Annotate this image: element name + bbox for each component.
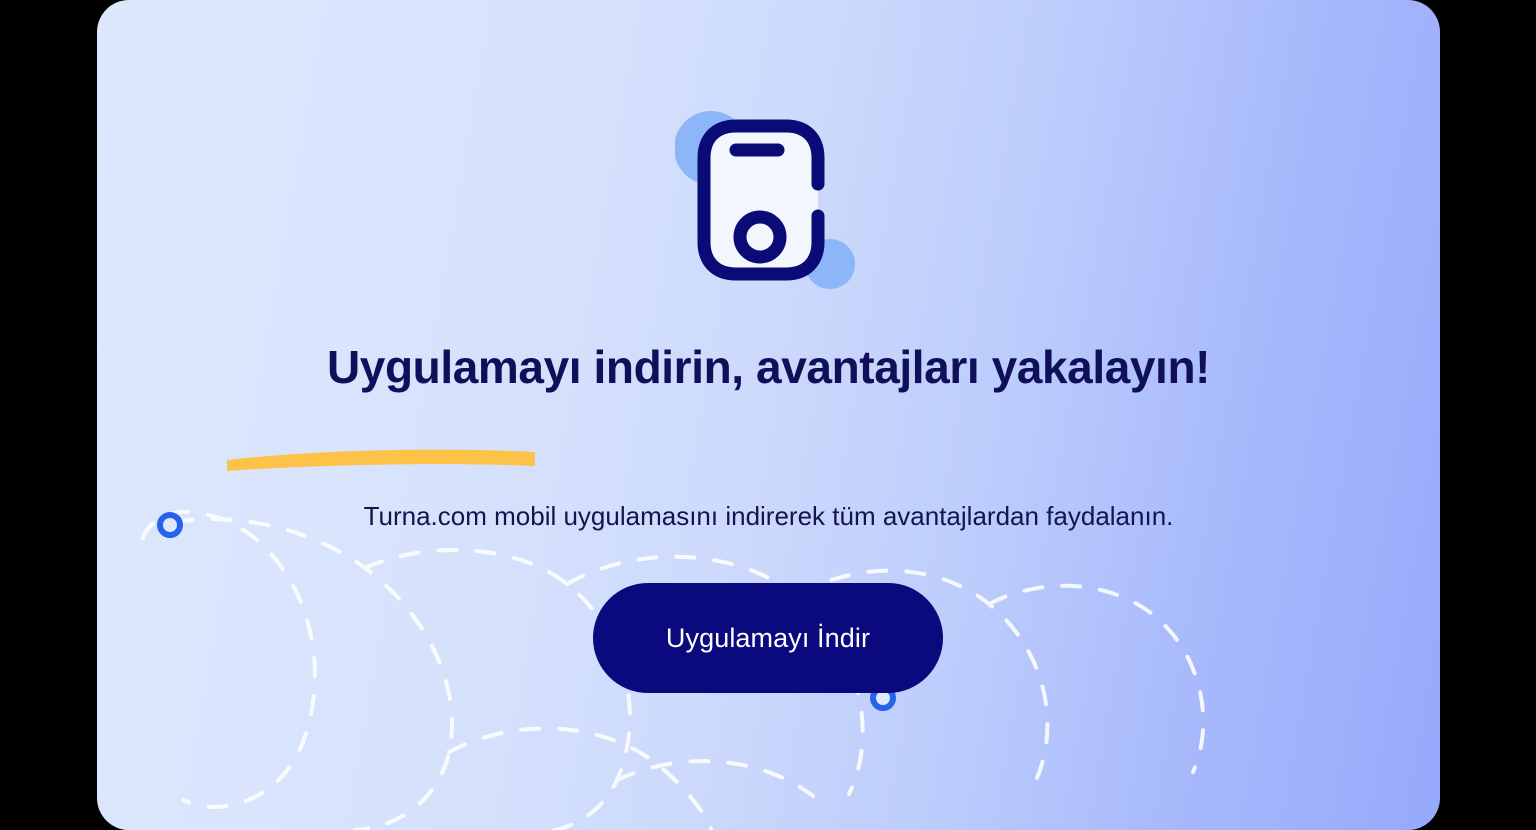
yellow-brush-underline [225,444,537,472]
route-marker-start [157,512,183,538]
screenshot-stage: Uygulamayı indirin, avantajları yakalayı… [0,0,1536,806]
page-title: Uygulamayı indirin, avantajları yakalayı… [97,337,1440,398]
headline-block: Uygulamayı indirin, avantajları yakalayı… [97,337,1440,398]
app-download-promo-card: Uygulamayı indirin, avantajları yakalayı… [97,0,1440,830]
download-app-button[interactable]: Uygulamayı İndir [593,583,943,693]
mobile-phone-illustration [675,100,875,300]
subtitle-text: Turna.com mobil uygulamasını indirerek t… [97,498,1440,534]
